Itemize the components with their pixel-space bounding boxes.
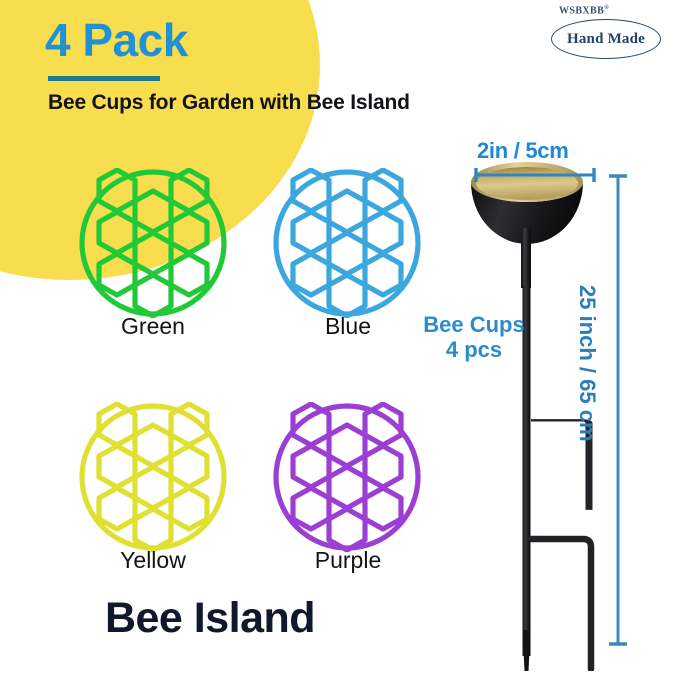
bee-cups-callout: Bee Cups 4 pcs [410,313,538,362]
brand-name-text: WSBXBB [559,5,604,16]
honeycomb-disc-green [78,168,228,318]
color-label-purple: Purple [258,547,438,574]
height-dimension-label: 25 inch / 65 cm [574,285,600,525]
honeycomb-disc-purple [272,402,422,552]
handmade-badge-label: Hand Made [567,31,645,48]
product-illustration [455,130,679,671]
handmade-badge: Hand Made [551,19,661,59]
bee-cups-callout-line2: 4 pcs [446,337,502,362]
brand-logo: WSBXBB® Hand Made [541,5,665,61]
page-subtitle: Bee Cups for Garden with Bee Island [48,91,410,115]
width-dimension-label: 2in / 5cm [477,138,568,164]
color-label-green: Green [63,313,243,340]
brand-name: WSBXBB® [559,5,609,16]
width-dimension-arrow [470,167,600,183]
footer-brand-name: Bee Island [0,594,420,643]
color-label-yellow: Yellow [63,547,243,574]
height-dimension-arrow [605,170,631,650]
honeycomb-disc-blue [272,168,422,318]
honeycomb-disc-yellow [78,402,228,552]
infographic-canvas: 4 Pack Bee Cups for Garden with Bee Isla… [0,0,679,671]
bee-cups-callout-line1: Bee Cups [423,312,524,337]
title-divider [48,76,160,81]
registered-mark-icon: ® [604,5,609,11]
page-title: 4 Pack [45,17,188,63]
